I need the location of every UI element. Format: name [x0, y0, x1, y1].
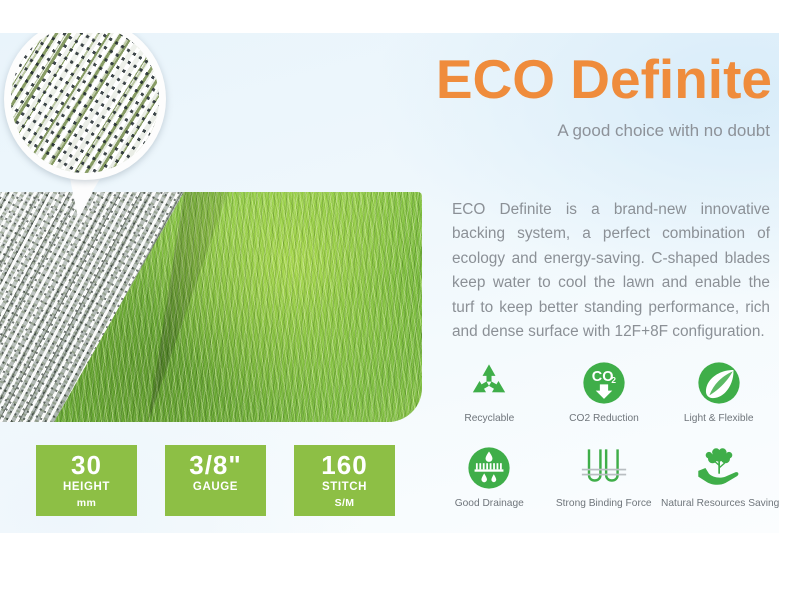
recycle-icon [432, 358, 547, 408]
feature-recyclable: Recyclable [432, 358, 547, 425]
magnifier-ring [4, 18, 166, 180]
spec-sub: mm [77, 496, 96, 511]
feature-label: Natural Resources Saving [661, 498, 776, 510]
turf-product-photo [0, 192, 422, 422]
spec-value: 3/8" [189, 451, 241, 479]
drainage-icon [432, 443, 547, 493]
spec-badge-gauge: 3/8" GAUGE [165, 445, 266, 516]
leaf-icon [661, 358, 776, 408]
page-title: ECO Definite [330, 48, 772, 110]
feature-label: Light & Flexible [661, 413, 776, 425]
spec-unit: STITCH [322, 479, 367, 496]
feature-label: CO2 Reduction [547, 413, 662, 425]
feature-row-2: Good Drainage Strong Binding Force [432, 443, 776, 510]
bottom-white-margin [0, 533, 800, 596]
feature-strong-binding-force: Strong Binding Force [547, 443, 662, 510]
spec-sub: S/M [335, 496, 355, 511]
feature-label: Strong Binding Force [547, 498, 662, 510]
feature-co2-reduction: CO 2 CO2 Reduction [547, 358, 662, 425]
svg-text:CO: CO [592, 369, 614, 385]
feature-row-1: Recyclable CO 2 CO2 Reduction [432, 358, 776, 425]
feature-label: Good Drainage [432, 498, 547, 510]
magnifier-backing-texture [11, 25, 159, 173]
headline-block: ECO Definite A good choice with no doubt [330, 48, 772, 142]
tagline: A good choice with no doubt [330, 120, 770, 142]
product-description: ECO Definite is a brand-new innovative b… [452, 198, 770, 344]
feature-light-flexible: Light & Flexible [661, 358, 776, 425]
top-white-margin [0, 0, 800, 33]
spec-badge-stitch: 160 STITCH S/M [294, 445, 395, 516]
svg-text:2: 2 [611, 376, 616, 385]
spec-unit: GAUGE [193, 479, 238, 496]
spec-value: 160 [321, 451, 367, 479]
feature-label: Recyclable [432, 413, 547, 425]
feature-good-drainage: Good Drainage [432, 443, 547, 510]
binding-force-icon [547, 443, 662, 493]
spec-unit: HEIGHT [63, 479, 110, 496]
product-banner: ECO Definite A good choice with no doubt… [0, 0, 800, 596]
spec-badges: 30 HEIGHT mm 3/8" GAUGE 160 STITCH S/M [36, 445, 423, 516]
right-white-margin [779, 0, 800, 596]
backing-magnifier-callout [4, 18, 166, 180]
feature-icon-grid: Recyclable CO 2 CO2 Reduction [432, 358, 776, 510]
co2-reduction-icon: CO 2 [547, 358, 662, 408]
hand-tree-icon [661, 443, 776, 493]
feature-natural-resources-saving: Natural Resources Saving [661, 443, 776, 510]
spec-badge-height: 30 HEIGHT mm [36, 445, 137, 516]
spec-value: 30 [71, 451, 102, 479]
